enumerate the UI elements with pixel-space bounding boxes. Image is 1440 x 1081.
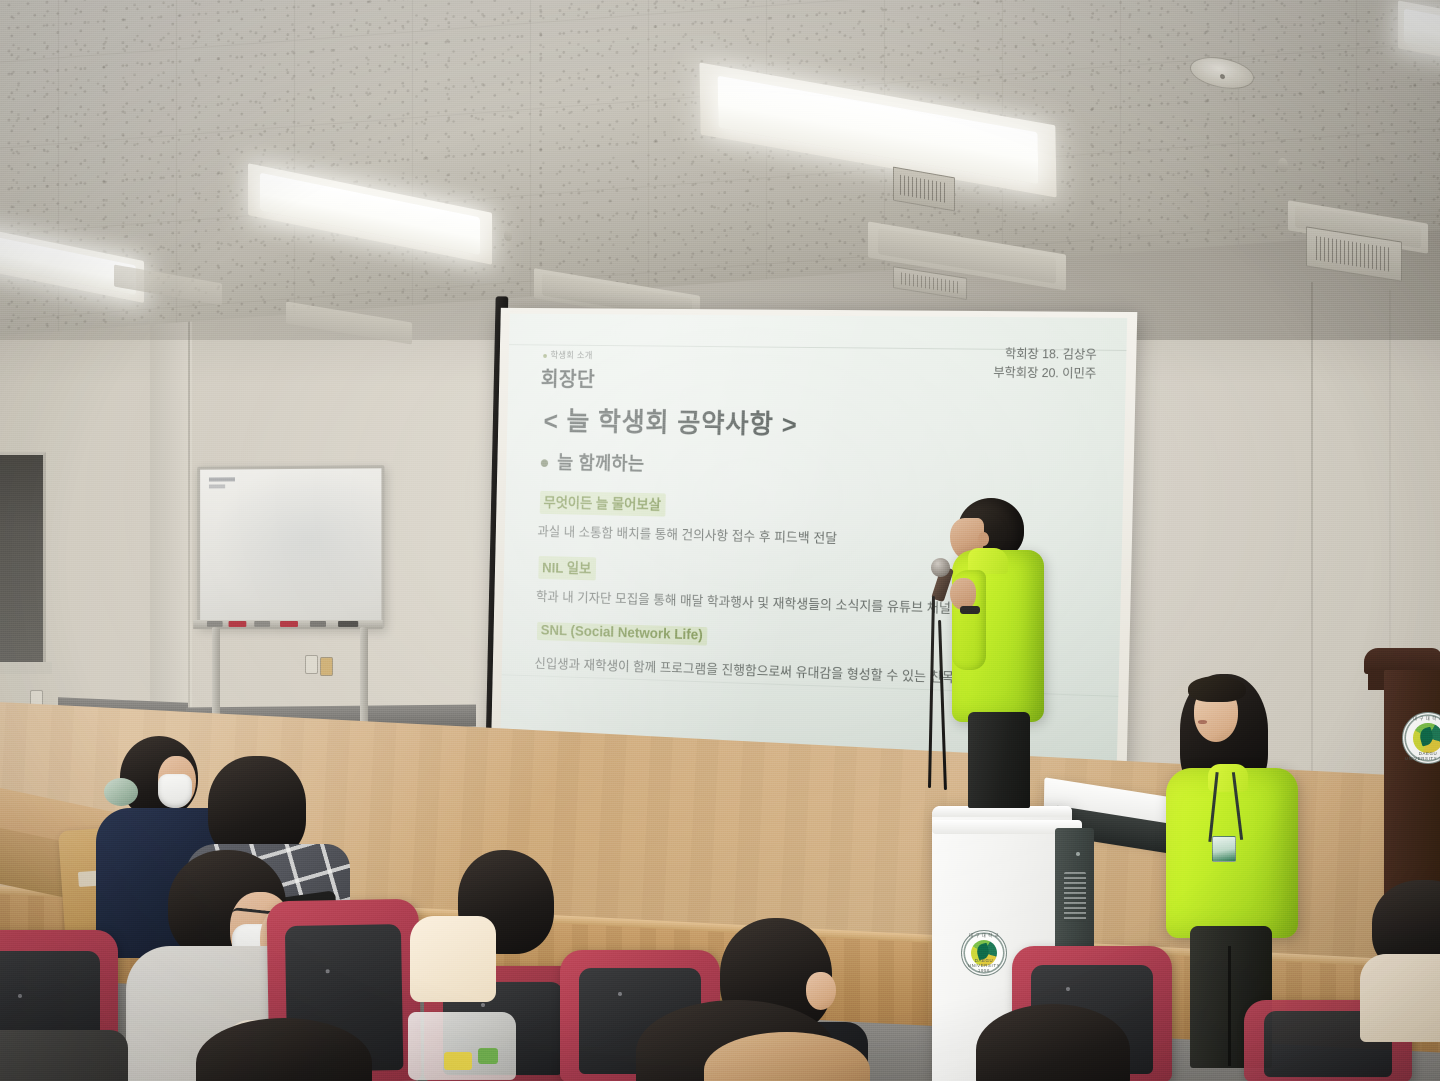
audience-member-blonde (704, 1032, 874, 1081)
officer-vice-president: 부학회장 20. 이민주 (993, 364, 1096, 384)
plastic-bag (408, 1012, 516, 1080)
slide-title: < 늘 학생회 공약사항 > (543, 400, 798, 442)
lectern-seal-bottom-text: DAEGU UNIVERSITY 1956 (1402, 751, 1440, 761)
slide-item-1-description: 과실 내 소통함 배치를 통해 건의사항 접수 후 피드백 전달 (537, 520, 837, 547)
slide-kicker-text: 학생회 소개 (550, 350, 592, 360)
microphone-icon[interactable] (931, 558, 950, 577)
moderator-trouser-seam (1228, 946, 1231, 1066)
audience-member-front-row-3 (976, 1004, 1136, 1081)
sprinkler-head-icon (1278, 157, 1288, 172)
slide-officer-list: 학회장 18. 김상우 부학회장 20. 이민주 (993, 345, 1097, 385)
lectern-seal-top-text: 대 구 대 학 교 (1402, 716, 1440, 722)
podium-vent-grille (1064, 872, 1086, 922)
face-mask-icon (158, 774, 192, 808)
moderator-id-badge (1212, 836, 1236, 862)
slide-item-1-highlight: 무엇이든 늘 물어보살 (540, 491, 666, 517)
whiteboard (197, 465, 384, 628)
slide-item-3-description: 신입생과 재학생이 함께 프로그램을 진행함으로써 유대감을 형성할 수 있는 … (534, 652, 982, 687)
presenter-wristband (960, 606, 980, 614)
bag-contents-yellow (444, 1052, 472, 1070)
bullet-dot-icon (541, 459, 548, 467)
sprinkler-head-icon-2 (504, 229, 512, 241)
university-seal-podium: 대 구 대 학 교 DAEGU UNIVERSITY 1956 (961, 930, 1007, 976)
slide-main-bullet-text: 늘 함께하는 (557, 453, 645, 475)
moderator-fringe (1188, 676, 1246, 702)
slide-main-bullet: 늘 함께하는 (541, 448, 645, 476)
bag-contents-green (478, 1048, 498, 1064)
front-row-hair-3 (976, 1004, 1130, 1081)
seal-top-text: 대 구 대 학 교 (961, 933, 1007, 939)
presenter-trousers (968, 712, 1030, 808)
presenter-ear (978, 532, 989, 546)
podium-power-led-icon (1076, 852, 1080, 856)
audience-member-front-row (196, 1018, 376, 1081)
hair-scrunchie (104, 778, 138, 806)
moderator-lips (1198, 720, 1207, 724)
university-seal-lectern: 대 구 대 학 교 DAEGU UNIVERSITY 1956 (1402, 712, 1440, 764)
audience-cream-scarf (410, 916, 496, 1002)
presenter-person (944, 498, 1054, 808)
front-row-hair (196, 1018, 372, 1081)
auditorium-photo: 학생회 소개 학회장 18. 김상우 부학회장 20. 이민주 회장단 < 늘 … (0, 0, 1440, 1081)
slide-heading: 회장단 (541, 364, 596, 393)
slide-item-3-highlight: SNL (Social Network Life) (537, 622, 708, 646)
wall-seam-right (1311, 282, 1313, 842)
officer-president: 학회장 18. 김상우 (994, 345, 1097, 365)
seal-bottom-text: DAEGU UNIVERSITY 1956 (961, 958, 1007, 973)
slide-kicker: 학생회 소개 (543, 348, 593, 361)
whiteboard-note (209, 477, 252, 489)
floor-bag (0, 1030, 128, 1081)
audience-member-cream (424, 850, 564, 1000)
slide-item-2-description: 학과 내 기자단 모집을 통해 매달 학과행사 및 재학생들의 소식지를 유튜브… (536, 585, 979, 617)
window-blind (0, 452, 46, 664)
audience-right-top (1360, 954, 1440, 1042)
kicker-bullet-icon (543, 354, 547, 358)
blonde-hair (704, 1032, 870, 1081)
audience-member-right (1368, 880, 1440, 1010)
slide-item-2-highlight: NIL 일보 (538, 556, 596, 581)
